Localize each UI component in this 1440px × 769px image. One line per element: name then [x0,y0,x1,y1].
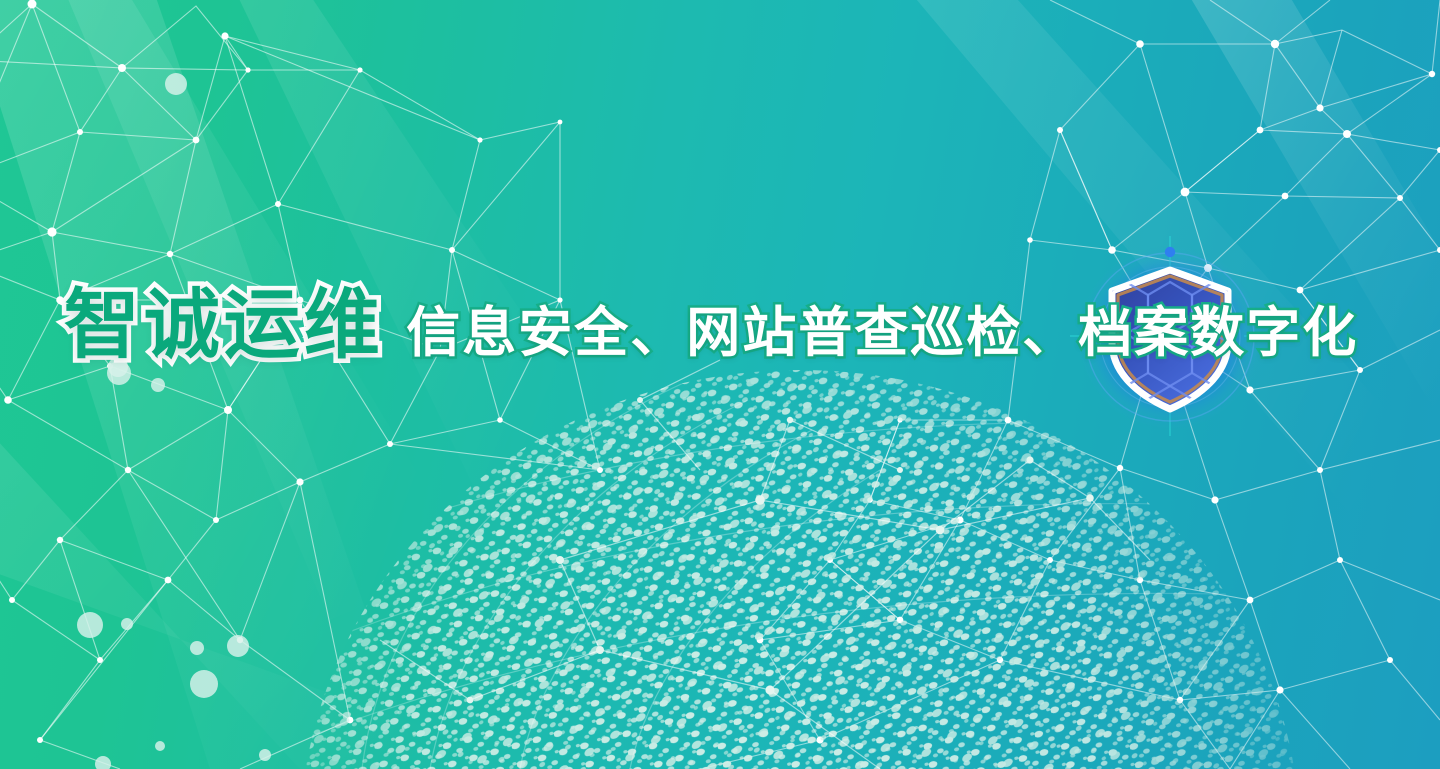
globe-constellation-lines [380,360,1150,769]
banner-text-block: 智诚运维 信息安全、网站普查巡检、档案数字化 [0,282,1440,365]
hero-banner: 智诚运维 信息安全、网站普查巡检、档案数字化 [0,0,1440,769]
mesh-left-soft-dots [77,73,271,769]
mesh-left-lines [0,4,600,769]
halo-top-node [1165,247,1175,257]
page-title: 智诚运维 [64,286,384,365]
page-subtitle: 信息安全、网站普查巡检、档案数字化 [406,304,1358,363]
mesh-left-nodes [0,0,603,743]
globe-constellation-nodes [467,397,1094,703]
